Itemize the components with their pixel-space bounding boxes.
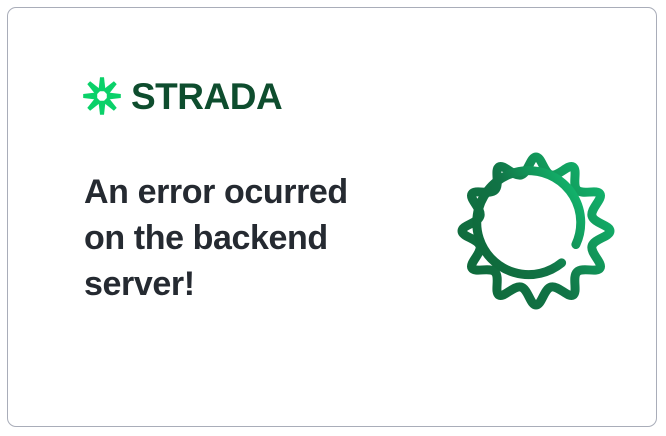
gear-cog-icon — [448, 143, 624, 319]
gear-outer-ring — [462, 157, 610, 305]
brand-logo: STRADA — [82, 72, 282, 120]
strada-asterisk-icon — [82, 76, 122, 116]
gear-inner-circle — [477, 171, 581, 275]
error-message-text: An error ocurred on the backend server! — [84, 170, 384, 308]
brand-wordmark: STRADA — [131, 78, 282, 115]
error-card: STRADA An error ocurred on the backend s… — [7, 7, 657, 427]
